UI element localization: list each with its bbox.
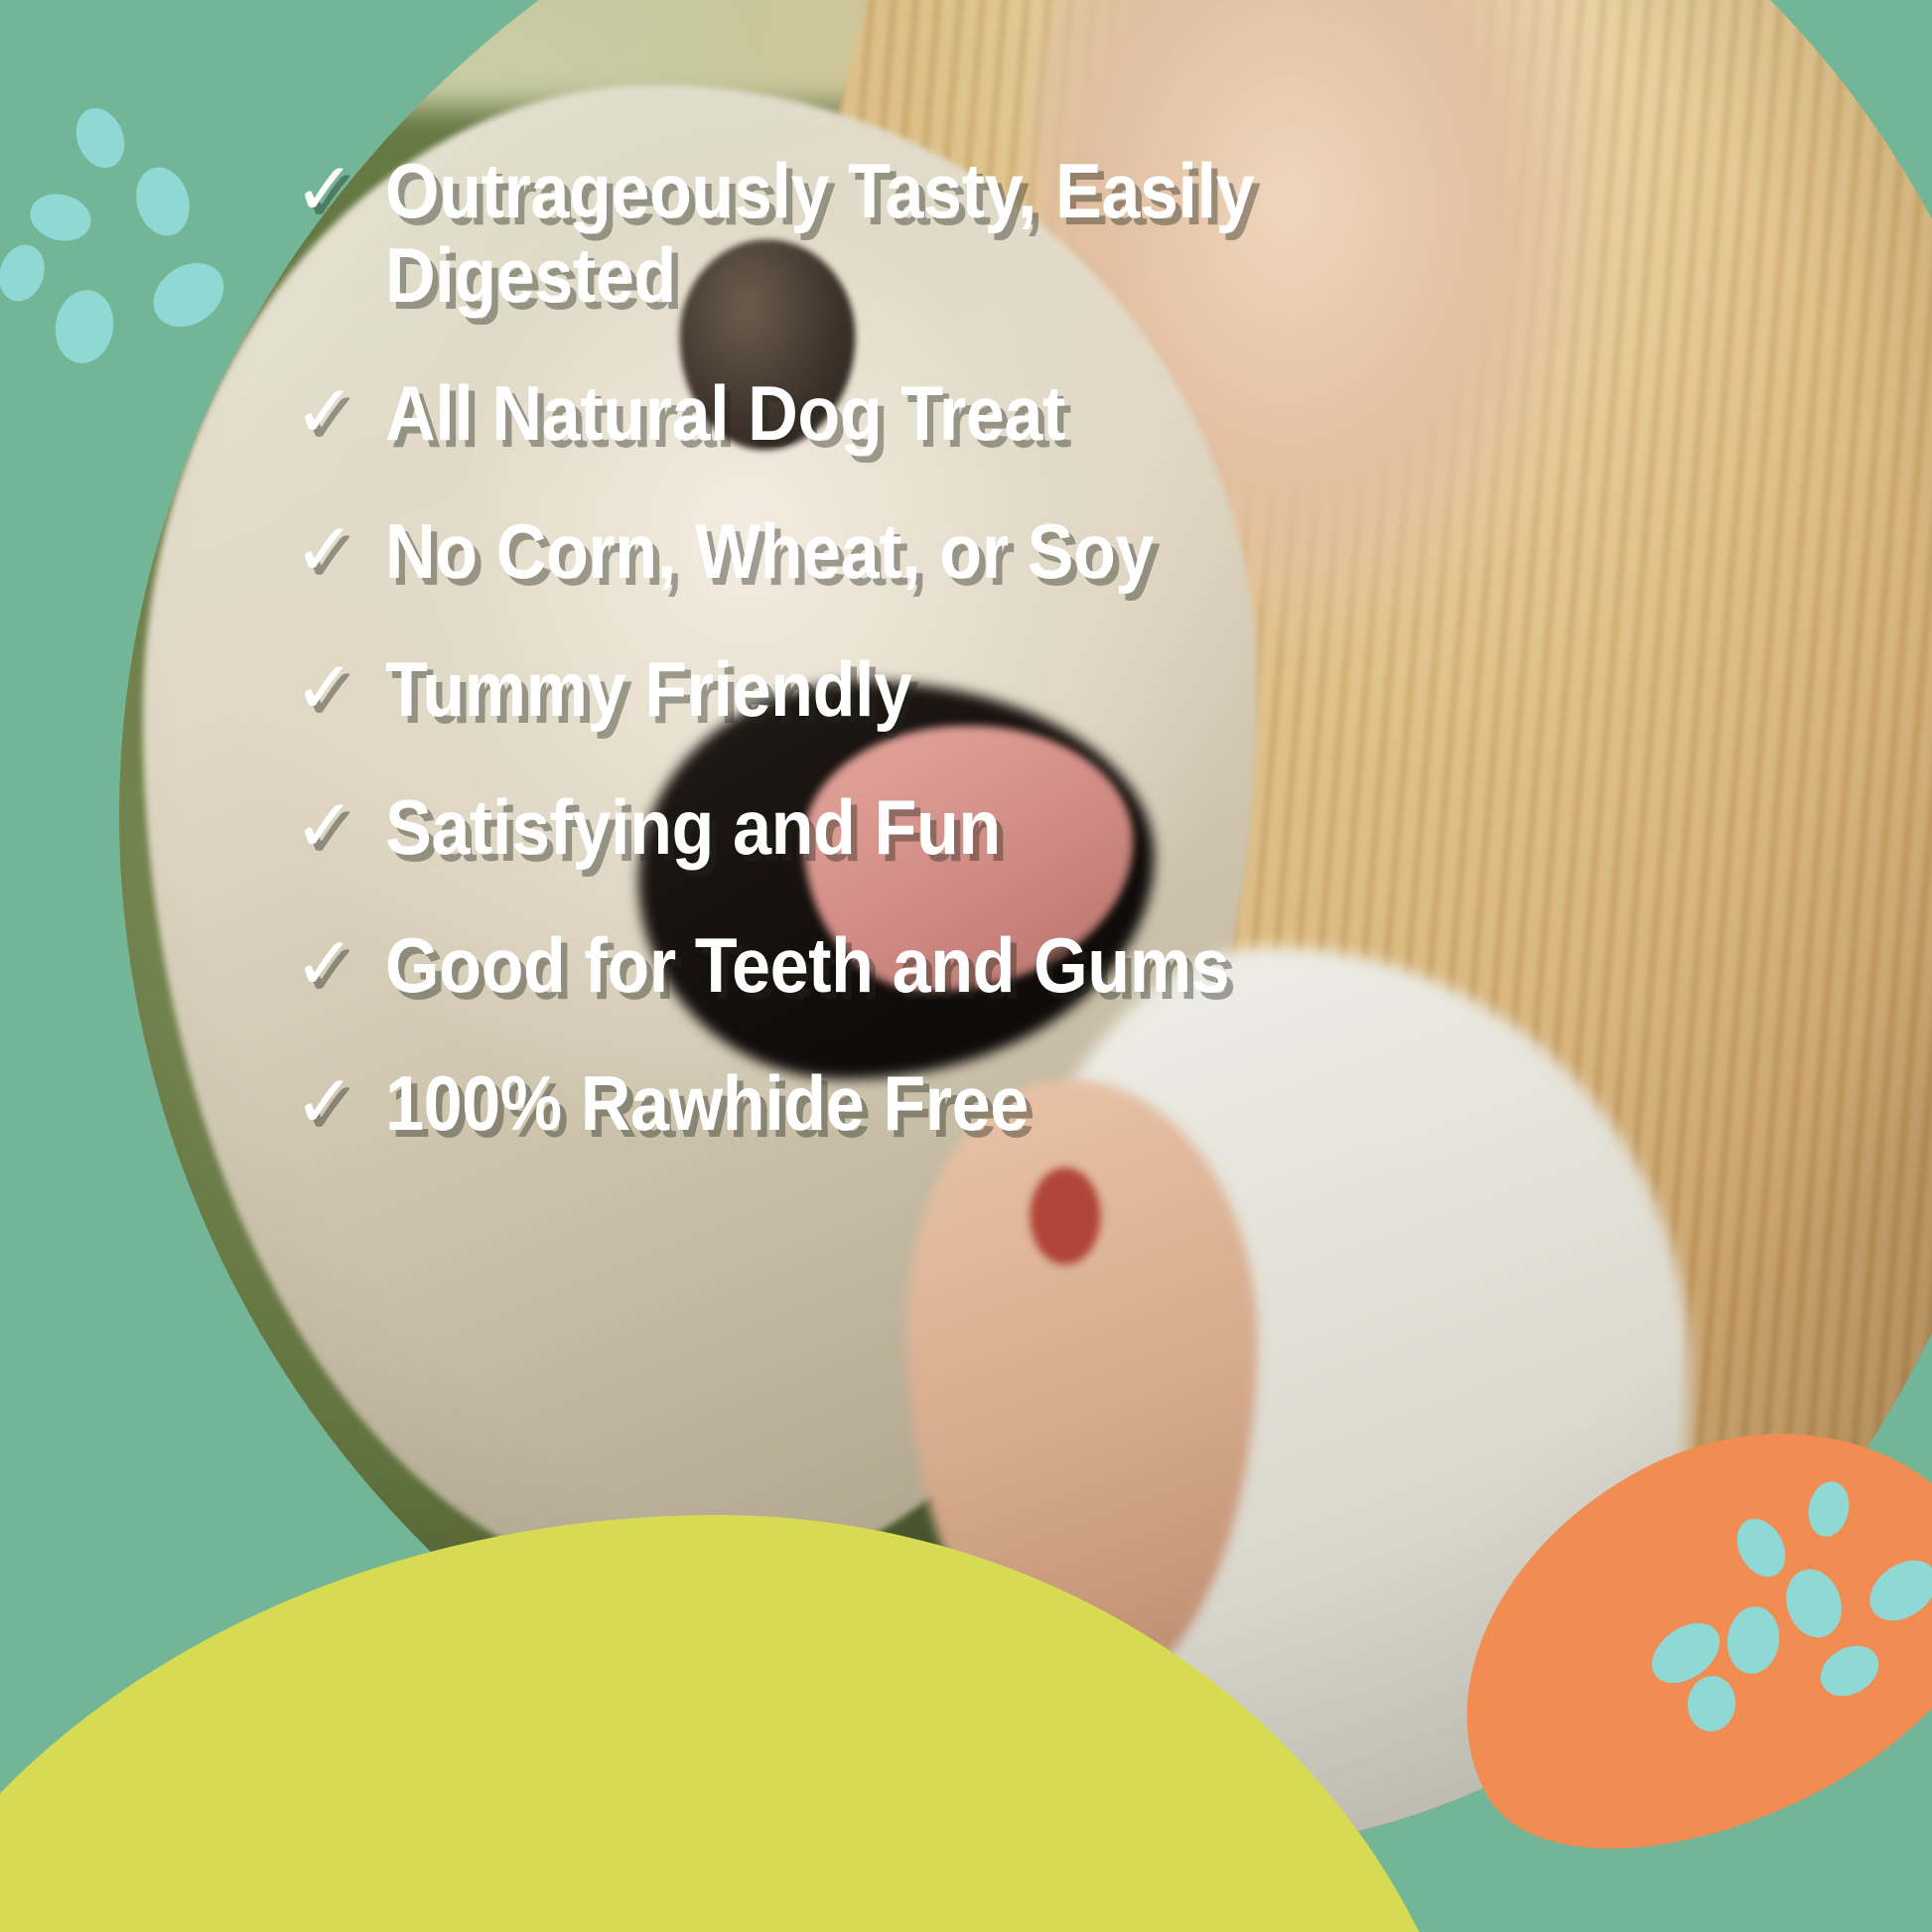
benefit-label: All Natural Dog Treat bbox=[385, 371, 1065, 456]
checkmark-icon: ✓ bbox=[294, 375, 355, 449]
checkmark-icon: ✓ bbox=[294, 651, 355, 725]
benefit-label: Outrageously Tasty, Easily Digested bbox=[385, 149, 1254, 318]
checkmark-icon: ✓ bbox=[294, 927, 355, 1001]
benefit-label: No Corn, Wheat, or Soy bbox=[385, 509, 1154, 594]
benefit-item: ✓100% Rawhide Free bbox=[294, 1061, 1585, 1146]
checkmark-icon: ✓ bbox=[294, 1065, 355, 1139]
promo-poster: ✓Outrageously Tasty, Easily Digested✓All… bbox=[0, 0, 1932, 1932]
checkmark-icon: ✓ bbox=[294, 513, 355, 587]
benefit-label: Satisfying and Fun bbox=[385, 785, 1001, 870]
benefit-item: ✓No Corn, Wheat, or Soy bbox=[294, 509, 1585, 594]
benefit-item: ✓All Natural Dog Treat bbox=[294, 371, 1585, 456]
benefit-item: ✓Good for Teeth and Gums bbox=[294, 923, 1585, 1008]
benefit-item: ✓Outrageously Tasty, Easily Digested bbox=[294, 149, 1585, 318]
benefit-item: ✓Satisfying and Fun bbox=[294, 785, 1585, 870]
benefit-item: ✓Tummy Friendly bbox=[294, 647, 1585, 732]
benefit-label: Tummy Friendly bbox=[385, 647, 912, 732]
benefit-label: Good for Teeth and Gums bbox=[385, 923, 1229, 1008]
benefit-label: 100% Rawhide Free bbox=[385, 1061, 1029, 1146]
benefits-list: ✓Outrageously Tasty, Easily Digested✓All… bbox=[294, 149, 1585, 1146]
checkmark-icon: ✓ bbox=[294, 153, 355, 226]
checkmark-icon: ✓ bbox=[294, 789, 355, 863]
